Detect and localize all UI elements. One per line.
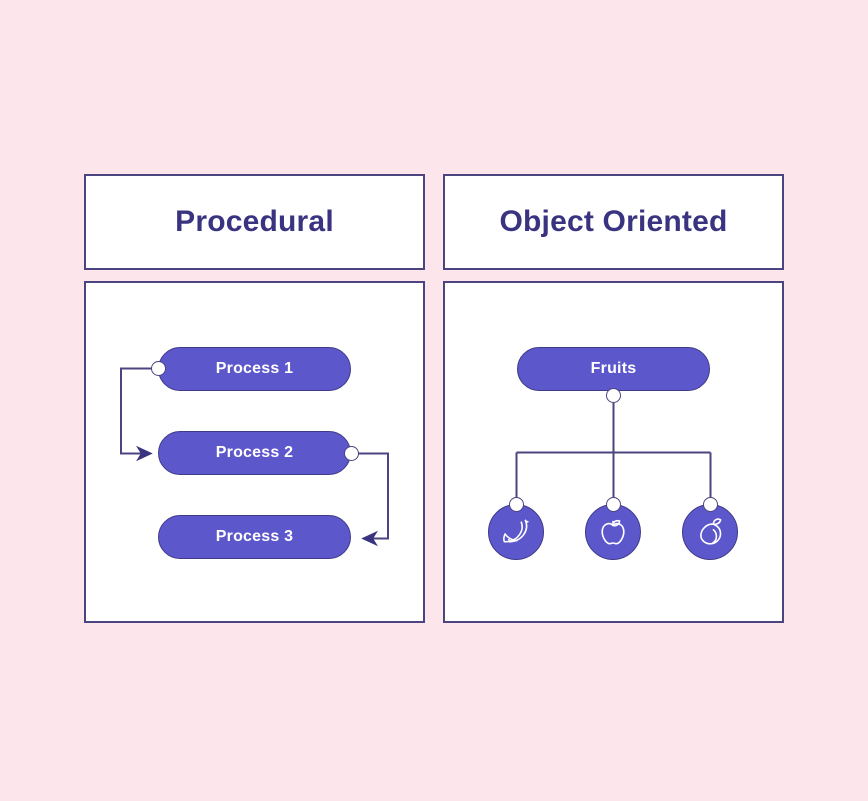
diagram-canvas: Procedural Object Oriented P bbox=[0, 0, 868, 801]
process-2-label: Process 2 bbox=[216, 444, 293, 462]
procedural-title: Procedural bbox=[175, 205, 334, 239]
object-oriented-title: Object Oriented bbox=[499, 205, 727, 239]
banana-node[interactable] bbox=[488, 504, 544, 560]
apple-connector-dot bbox=[606, 497, 621, 512]
procedural-header-panel: Procedural bbox=[84, 174, 425, 270]
process-2-node[interactable]: Process 2 bbox=[158, 431, 351, 475]
apple-icon bbox=[597, 515, 629, 549]
banana-icon bbox=[499, 515, 533, 549]
fruits-connector-dot bbox=[606, 388, 621, 403]
object-oriented-body-panel bbox=[443, 281, 784, 623]
process-2-connector-dot bbox=[344, 446, 359, 461]
mango-node[interactable] bbox=[682, 504, 738, 560]
fruits-label: Fruits bbox=[591, 360, 637, 378]
mango-icon bbox=[693, 515, 727, 549]
banana-connector-dot bbox=[509, 497, 524, 512]
process-3-label: Process 3 bbox=[216, 528, 293, 546]
process-1-connector-dot bbox=[151, 361, 166, 376]
process-1-label: Process 1 bbox=[216, 360, 293, 378]
object-oriented-header-panel: Object Oriented bbox=[443, 174, 784, 270]
apple-node[interactable] bbox=[585, 504, 641, 560]
fruits-node[interactable]: Fruits bbox=[517, 347, 710, 391]
process-3-node[interactable]: Process 3 bbox=[158, 515, 351, 559]
process-1-node[interactable]: Process 1 bbox=[158, 347, 351, 391]
mango-connector-dot bbox=[703, 497, 718, 512]
